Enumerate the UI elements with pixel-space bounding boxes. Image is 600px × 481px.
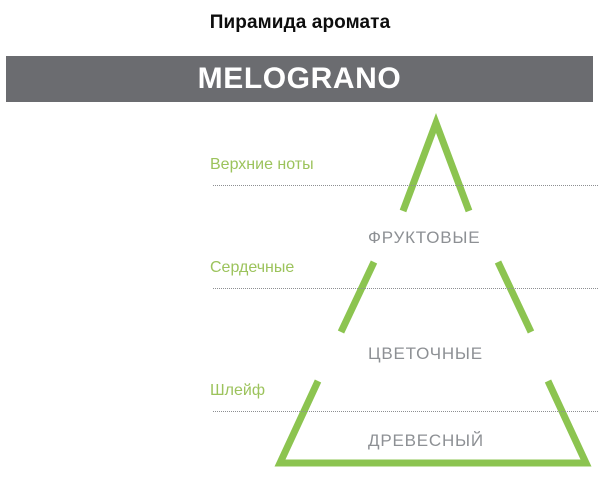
tier-label-heart: Сердечные xyxy=(210,255,294,281)
page-title: Пирамида аромата xyxy=(0,10,600,36)
family-label-fruity: ФРУКТОВЫЕ xyxy=(368,228,480,248)
tier-label-base: Шлейф xyxy=(210,378,265,404)
pyramid-tier-heart-right xyxy=(498,262,531,332)
leader-line-base xyxy=(213,411,598,412)
brand-bar: MELOGRANO xyxy=(6,56,593,102)
fragrance-pyramid-infographic: Пирамида аромата MELOGRANO Апельсин Фиал… xyxy=(0,0,600,481)
leader-line-heart xyxy=(213,288,598,289)
family-label-woody: ДРЕВЕСНЫЙ xyxy=(368,431,484,451)
family-label-floral: ЦВЕТОЧНЫЕ xyxy=(368,344,483,364)
pyramid-tier-top xyxy=(403,123,469,211)
leader-line-top xyxy=(213,185,598,186)
tier-label-top: Верхние ноты xyxy=(210,152,314,178)
pyramid-tier-heart-left xyxy=(341,262,374,332)
brand-name: MELOGRANO xyxy=(6,56,593,102)
